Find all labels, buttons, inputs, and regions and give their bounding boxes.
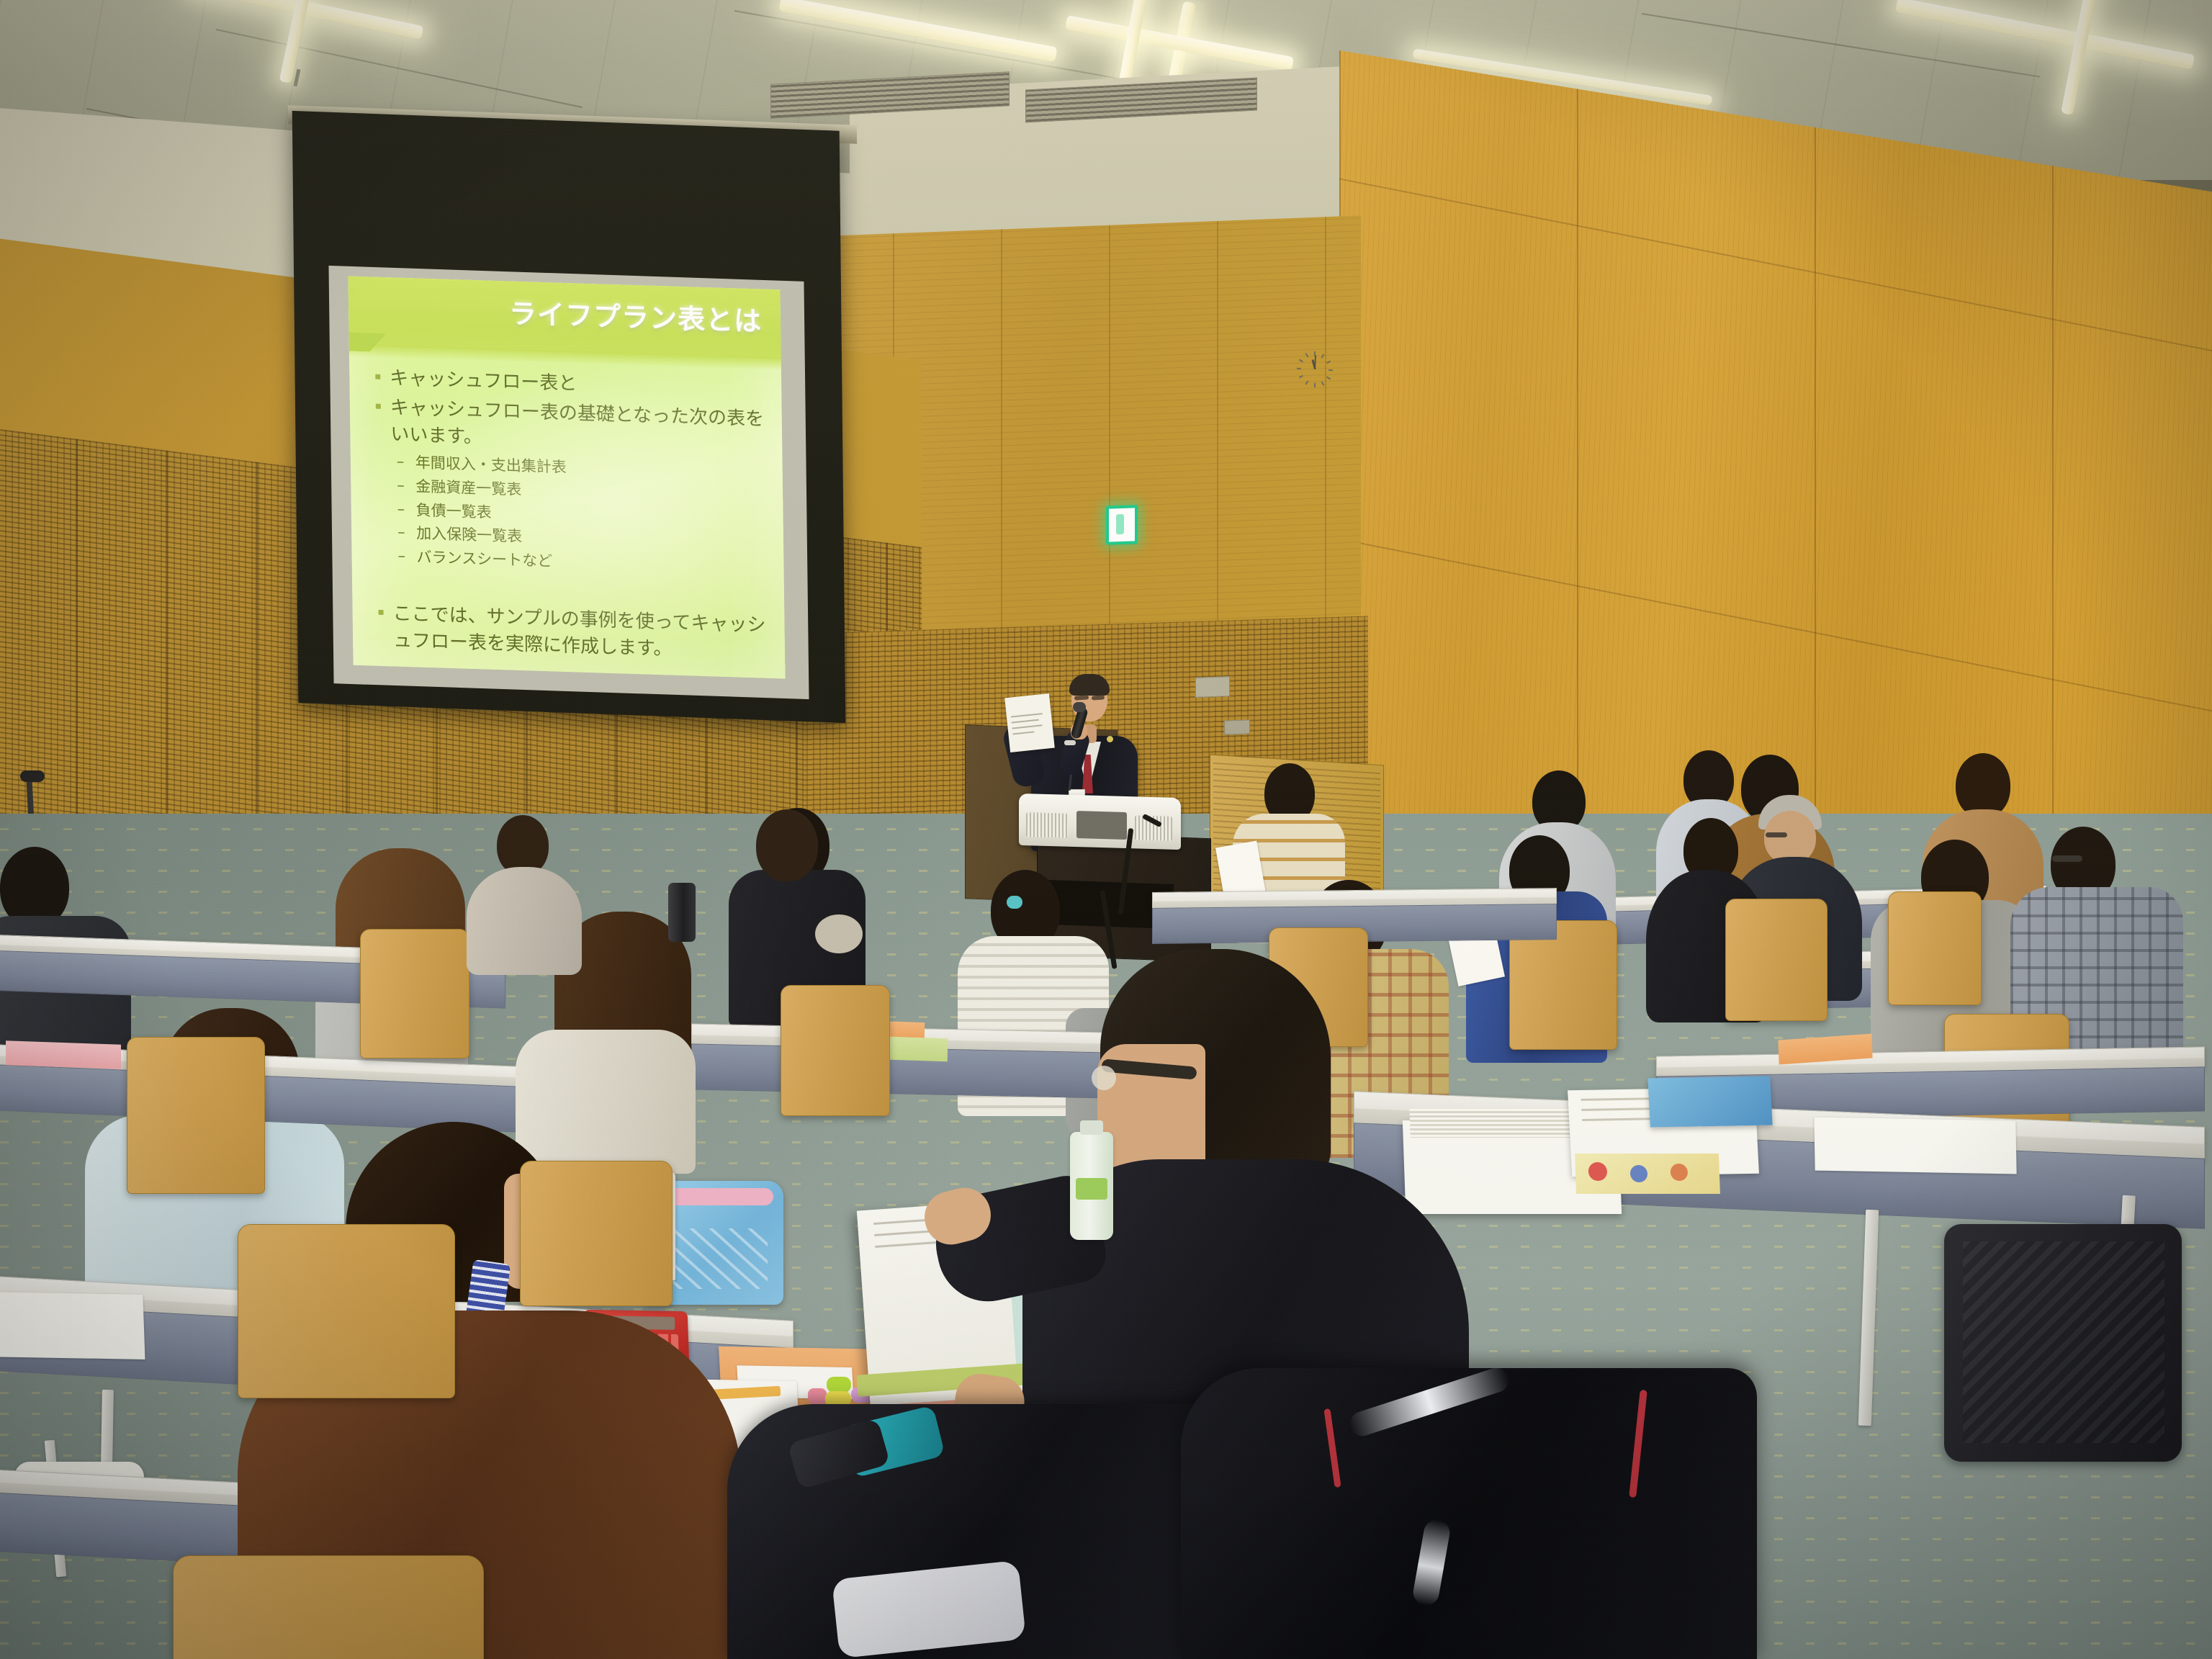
presenter-hair bbox=[1069, 674, 1110, 696]
presenter-glasses bbox=[1092, 695, 1105, 700]
wall-outlet[interactable] bbox=[1195, 676, 1230, 698]
wall-outlet[interactable] bbox=[1224, 719, 1250, 734]
draped-jacket[interactable] bbox=[1181, 1368, 1757, 1659]
microphone-head-icon bbox=[1073, 702, 1086, 712]
chair[interactable] bbox=[127, 1037, 265, 1194]
bag-pattern bbox=[660, 1228, 768, 1289]
coat-detail bbox=[815, 914, 863, 953]
wristwatch bbox=[1064, 740, 1076, 745]
chair[interactable] bbox=[1725, 899, 1827, 1021]
emergency-exit-sign bbox=[1106, 505, 1138, 545]
chair[interactable] bbox=[173, 1555, 484, 1659]
microphone-head-icon bbox=[20, 770, 45, 782]
projected-slide: ライフプラン表とは キャッシュフロー表と キャッシュフロー表の基礎となった次の表… bbox=[348, 276, 785, 678]
slide-closing-bullet: ここでは、サンプルの事例を使ってキャッシュフロー表を実際に作成します。 bbox=[392, 601, 772, 666]
projector-port-panel[interactable] bbox=[1076, 811, 1127, 840]
chair[interactable] bbox=[1888, 891, 1982, 1005]
booklet-blue[interactable] bbox=[1647, 1076, 1772, 1128]
slide-bullet: キャッシュフロー表の基礎となった次の表をいいます。 bbox=[390, 395, 770, 459]
candy-piece bbox=[808, 1388, 827, 1404]
chair[interactable] bbox=[360, 929, 469, 1058]
notebook[interactable] bbox=[1814, 1118, 2016, 1174]
handout-pink[interactable] bbox=[6, 1040, 121, 1069]
projector-vent-icon bbox=[1026, 812, 1068, 838]
candy-piece bbox=[827, 1377, 851, 1393]
chair[interactable] bbox=[781, 985, 890, 1116]
seminar-room-photo: ライフプラン表とは キャッシュフロー表と キャッシュフロー表の基礎となった次の表… bbox=[0, 0, 2212, 1659]
glasses-lens bbox=[1092, 1066, 1116, 1090]
chair-fabric-pattern bbox=[1963, 1241, 2164, 1443]
leaflet-yellow[interactable] bbox=[1575, 1154, 1720, 1194]
slide-body: キャッシュフロー表と キャッシュフロー表の基礎となった次の表をいいます。 年間収… bbox=[374, 365, 772, 669]
water-bottle[interactable] bbox=[1070, 1132, 1113, 1240]
hair-clip bbox=[1007, 896, 1022, 909]
clock-minute-hand bbox=[1314, 355, 1316, 369]
bottle-label bbox=[1076, 1178, 1107, 1200]
thermos-flask[interactable] bbox=[668, 883, 696, 942]
presenter-handout bbox=[1004, 693, 1055, 752]
chair[interactable] bbox=[238, 1224, 455, 1398]
bottle-cap bbox=[1080, 1120, 1103, 1135]
lapel-pin bbox=[1107, 736, 1113, 742]
notebook[interactable] bbox=[0, 1292, 145, 1359]
chair[interactable] bbox=[520, 1161, 673, 1306]
